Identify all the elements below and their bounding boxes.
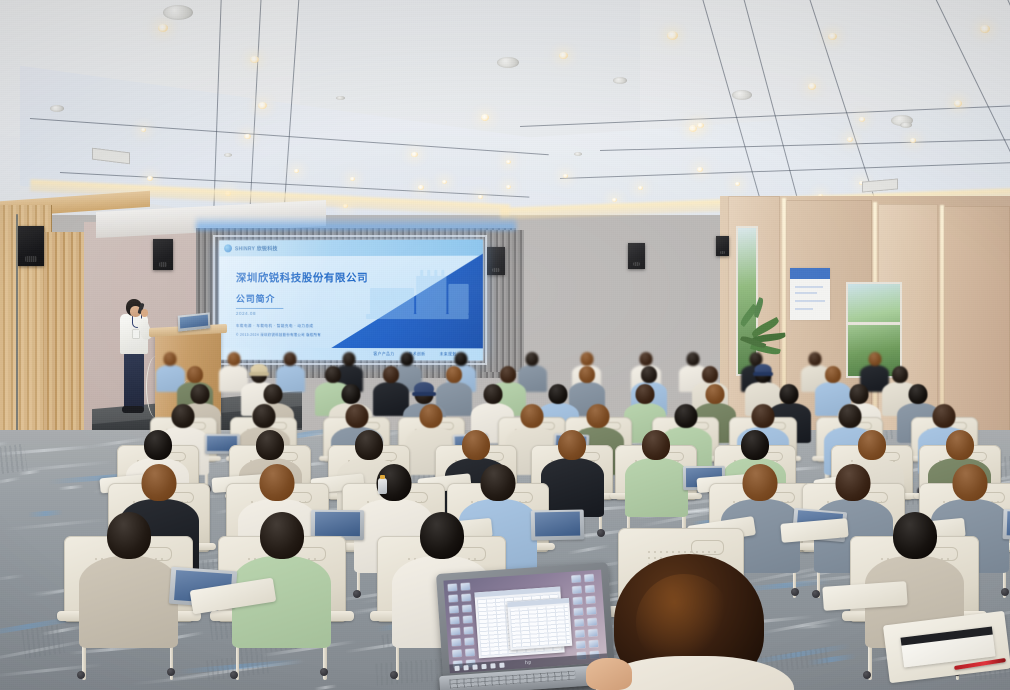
podium-laptop [178, 312, 211, 331]
attendee-torso [79, 556, 178, 648]
slide-tagline: 车载电源 · 车载电机 · 智能充电 · 动力总成 [236, 324, 314, 329]
attendee-head [144, 430, 172, 460]
carpet-blue-accent-streak [28, 509, 64, 517]
desktop-icon[interactable] [448, 584, 457, 592]
taskbar-app-icon[interactable] [499, 663, 504, 668]
dialog-list[interactable] [510, 605, 571, 648]
machine-base [366, 314, 469, 319]
desktop-icon[interactable] [465, 649, 474, 657]
conference-room-photo: SHINRY 欣锐科技 深圳欣锐科技股份有限公司 公司简介 2024.08 车载… [0, 0, 1010, 690]
chair-caster [597, 529, 605, 537]
attendee-head [190, 384, 209, 404]
attendee-head [500, 366, 516, 383]
recessed-downlight [638, 186, 643, 190]
laptop-screen [534, 512, 580, 537]
attendee-torso [625, 458, 688, 517]
machine-block [370, 288, 414, 314]
attendee-head [705, 384, 724, 404]
attendee-head [825, 366, 841, 383]
desktop-icon[interactable] [571, 575, 580, 583]
audience-member [79, 512, 178, 648]
water-bottle[interactable] [378, 478, 387, 494]
attendee-head [401, 352, 414, 366]
attendee-head [345, 404, 368, 428]
poster-text-line [795, 292, 817, 294]
desktop-icon[interactable] [574, 619, 583, 627]
chair-caster [863, 671, 871, 679]
taskbar-app-icon[interactable] [463, 665, 468, 670]
slide-nav-item: 客户产品力 [373, 352, 394, 357]
attendee-head [252, 404, 275, 428]
recessed-downlight [294, 169, 299, 173]
attendee-head [263, 384, 282, 404]
recessed-downlight [954, 100, 962, 107]
desktop-icon[interactable] [585, 585, 594, 593]
desktop-icon[interactable] [574, 608, 583, 616]
attendee-head [172, 404, 195, 428]
attendee-head [341, 384, 360, 404]
poster-text-line [795, 286, 823, 288]
chair-caster [77, 671, 85, 679]
hp-brand-logo: hp [525, 660, 532, 666]
presenter-hand [141, 309, 148, 317]
attendee-head [587, 404, 610, 428]
slide-subtitle: 公司简介 [236, 292, 276, 305]
desktop-icon[interactable] [573, 597, 582, 605]
machine-pillar [427, 270, 430, 286]
attendee-head [953, 464, 988, 501]
taskbar-app-icon[interactable] [472, 664, 477, 669]
desktop-icon[interactable] [448, 595, 457, 603]
desktop-icon[interactable] [452, 639, 461, 647]
laptop-keyboard[interactable] [449, 671, 575, 689]
wall-speaker [487, 247, 505, 275]
audience-member [232, 512, 331, 648]
recessed-downlight [612, 198, 617, 202]
chair-caster [791, 588, 799, 596]
ceiling-smoke-detector [574, 152, 582, 156]
desktop-icon[interactable] [586, 596, 595, 604]
desktop-icon[interactable] [452, 650, 461, 658]
presenter-legs [124, 352, 144, 410]
audience-member [541, 430, 604, 517]
wall-poster [790, 268, 830, 320]
recessed-downlight [250, 56, 259, 63]
attendee-head [260, 512, 304, 559]
desktop-icon[interactable] [587, 607, 596, 615]
attendee-head [809, 352, 822, 366]
recessed-downlight [828, 33, 837, 40]
attendee-head [420, 404, 443, 428]
attendee-head [455, 352, 468, 366]
presenter-shoes [122, 406, 144, 413]
taskbar-app-icon[interactable] [481, 664, 486, 669]
recessed-downlight [442, 180, 447, 184]
attendee-head [741, 430, 769, 460]
recessed-downlight [910, 138, 916, 143]
attendee-head [284, 352, 297, 366]
desktop-icon[interactable] [572, 586, 581, 594]
attendee-head [355, 430, 383, 460]
recessed-downlight [559, 52, 568, 59]
attendee-head [580, 352, 593, 366]
ceiling-smoke-detector [336, 96, 345, 101]
cap-brim [412, 392, 436, 396]
foreground-attendee-hand [586, 658, 632, 690]
desktop-icon[interactable] [576, 641, 585, 649]
screen-backlight-glow [196, 216, 516, 230]
start-button-icon[interactable] [454, 666, 459, 671]
ceiling-smoke-detector [900, 122, 912, 128]
desktop-icon[interactable] [575, 630, 584, 638]
recessed-downlight [481, 114, 489, 121]
slide-copyright: © 2013-2024 深圳欣锐科技股份有限公司 版权所有 [236, 332, 321, 337]
attendee-head [743, 464, 778, 501]
desktop-icon[interactable] [464, 638, 473, 646]
slide-date: 2024.08 [236, 311, 256, 316]
desktop-icon[interactable] [462, 605, 471, 613]
recessed-downlight [147, 176, 153, 181]
attendee-head [641, 366, 657, 383]
poster-text-line [795, 308, 813, 310]
attendee-head [227, 352, 240, 366]
attendee-head [558, 430, 586, 460]
carpet-texture-streak [0, 477, 20, 485]
desktop-icon[interactable] [587, 618, 596, 626]
carpet-texture-streak [58, 485, 84, 491]
wall-speaker [716, 236, 729, 256]
attendee-head [642, 430, 670, 460]
slide-machinery-illustration [364, 266, 473, 328]
desktop-icon[interactable] [588, 629, 597, 637]
palm-leaf [752, 297, 764, 318]
speaker-cable [16, 214, 18, 454]
ceiling-smoke-detector [50, 105, 64, 112]
ceiling-smoke-detector [497, 57, 519, 68]
attendee-head [260, 464, 295, 501]
attendee-head [946, 430, 974, 460]
attendee-head [858, 430, 886, 460]
attendee-head [480, 464, 515, 501]
attendee-head [850, 384, 869, 404]
recessed-downlight [563, 174, 568, 178]
chair-caster [390, 671, 398, 679]
recessed-downlight [350, 177, 355, 181]
desktop-icon[interactable] [589, 640, 598, 648]
recessed-downlight [689, 125, 697, 132]
attendee-head [420, 512, 464, 559]
desktop-icon[interactable] [461, 594, 470, 602]
desktop-icon[interactable] [451, 628, 460, 636]
carpet-texture-block [21, 624, 64, 658]
attendee-head [751, 404, 774, 428]
ceiling-smoke-detector [163, 5, 193, 20]
attendee-head [868, 352, 881, 366]
recessed-downlight [258, 102, 267, 109]
recessed-downlight [735, 182, 740, 186]
attendee-head [164, 352, 177, 366]
recessed-downlight [847, 137, 853, 142]
slide-logo-text: SHINRY 欣锐科技 [235, 245, 278, 252]
audience-member [625, 430, 688, 517]
poster-header-bar [790, 268, 830, 279]
wall-speaker [153, 239, 173, 270]
chair-caster [230, 671, 238, 679]
machine-pillar [434, 270, 437, 286]
attendee-head [483, 384, 502, 404]
attendee-head [702, 366, 718, 383]
laptop-screen [1006, 511, 1010, 536]
attendee-laptop[interactable] [1003, 509, 1010, 540]
presenter-badge [133, 330, 139, 338]
chair-caster [353, 590, 361, 598]
attendee-head [187, 366, 203, 383]
attendee-head [462, 430, 490, 460]
chair-caster [320, 668, 328, 676]
carpet-texture-streak [314, 685, 338, 690]
recessed-downlight [244, 134, 251, 140]
poster-text-line [795, 300, 825, 302]
taskbar-app-icon[interactable] [490, 663, 495, 668]
attendee-head [687, 352, 700, 366]
ceiling-smoke-detector [224, 153, 232, 157]
recessed-downlight [697, 167, 703, 172]
cap-brim [753, 372, 773, 376]
slide-header-bar: SHINRY 欣锐科技 [219, 240, 483, 257]
desktop-icon[interactable] [584, 574, 593, 582]
attendee-head [142, 464, 177, 501]
attendee-head [639, 352, 652, 366]
attendee-head [520, 404, 543, 428]
attendee-head [836, 464, 871, 501]
recessed-downlight [506, 160, 511, 164]
recessed-downlight [418, 185, 424, 190]
attendee-head [838, 404, 861, 428]
carpet-texture-block [0, 444, 28, 476]
recessed-downlight [808, 83, 816, 90]
wall-speaker [18, 226, 44, 266]
recessed-downlight [141, 128, 146, 132]
recessed-downlight [478, 195, 483, 199]
recessed-downlight [697, 123, 704, 129]
attendee-head [446, 366, 462, 383]
chair-caster [167, 668, 175, 676]
wall-speaker [628, 243, 645, 269]
attendee-head [780, 384, 799, 404]
attendee-head [342, 352, 355, 366]
carpet-texture-streak [0, 574, 25, 581]
shinry-logo-icon [224, 244, 232, 252]
recessed-downlight [667, 31, 678, 40]
dialog-window[interactable] [507, 598, 572, 650]
slide-title: 深圳欣锐科技股份有限公司 [236, 270, 368, 285]
machine-block [448, 284, 468, 314]
attendee-torso [541, 458, 604, 517]
window-frame-mullion [846, 322, 902, 325]
attendee-head [674, 404, 697, 428]
recessed-downlight [411, 152, 418, 158]
recessed-downlight [506, 185, 511, 189]
attendee-head [892, 366, 908, 383]
attendee-head [256, 430, 284, 460]
chair-caster [1001, 588, 1009, 596]
machine-pillar [420, 270, 423, 286]
machine-pillar [441, 270, 444, 286]
attendee-laptop[interactable] [531, 509, 584, 540]
attendee-head [909, 384, 928, 404]
attendee-head [933, 404, 956, 428]
slide-divider-rule [236, 308, 283, 309]
desktop-icon[interactable] [463, 616, 472, 624]
desktop-icon[interactable] [461, 583, 470, 591]
recessed-downlight [859, 117, 865, 122]
attendee-head [893, 512, 937, 559]
attendee-head [325, 366, 341, 383]
ceiling-smoke-detector [613, 77, 627, 84]
attendee-head [383, 366, 399, 383]
projector-screen: SHINRY 欣锐科技 深圳欣锐科技股份有限公司 公司简介 2024.08 车载… [219, 240, 483, 361]
attendee-head [579, 366, 595, 383]
desktop-icon[interactable] [464, 627, 473, 635]
ceiling [0, 0, 1010, 215]
desktop-icon[interactable] [449, 606, 458, 614]
ceiling-smoke-detector [732, 90, 752, 100]
attendee-head [107, 512, 151, 559]
desktop-icon[interactable] [450, 617, 459, 625]
attendee-head [636, 384, 655, 404]
attendee-head [548, 384, 567, 404]
cap-brim [249, 372, 269, 376]
attendee-head [526, 352, 539, 366]
